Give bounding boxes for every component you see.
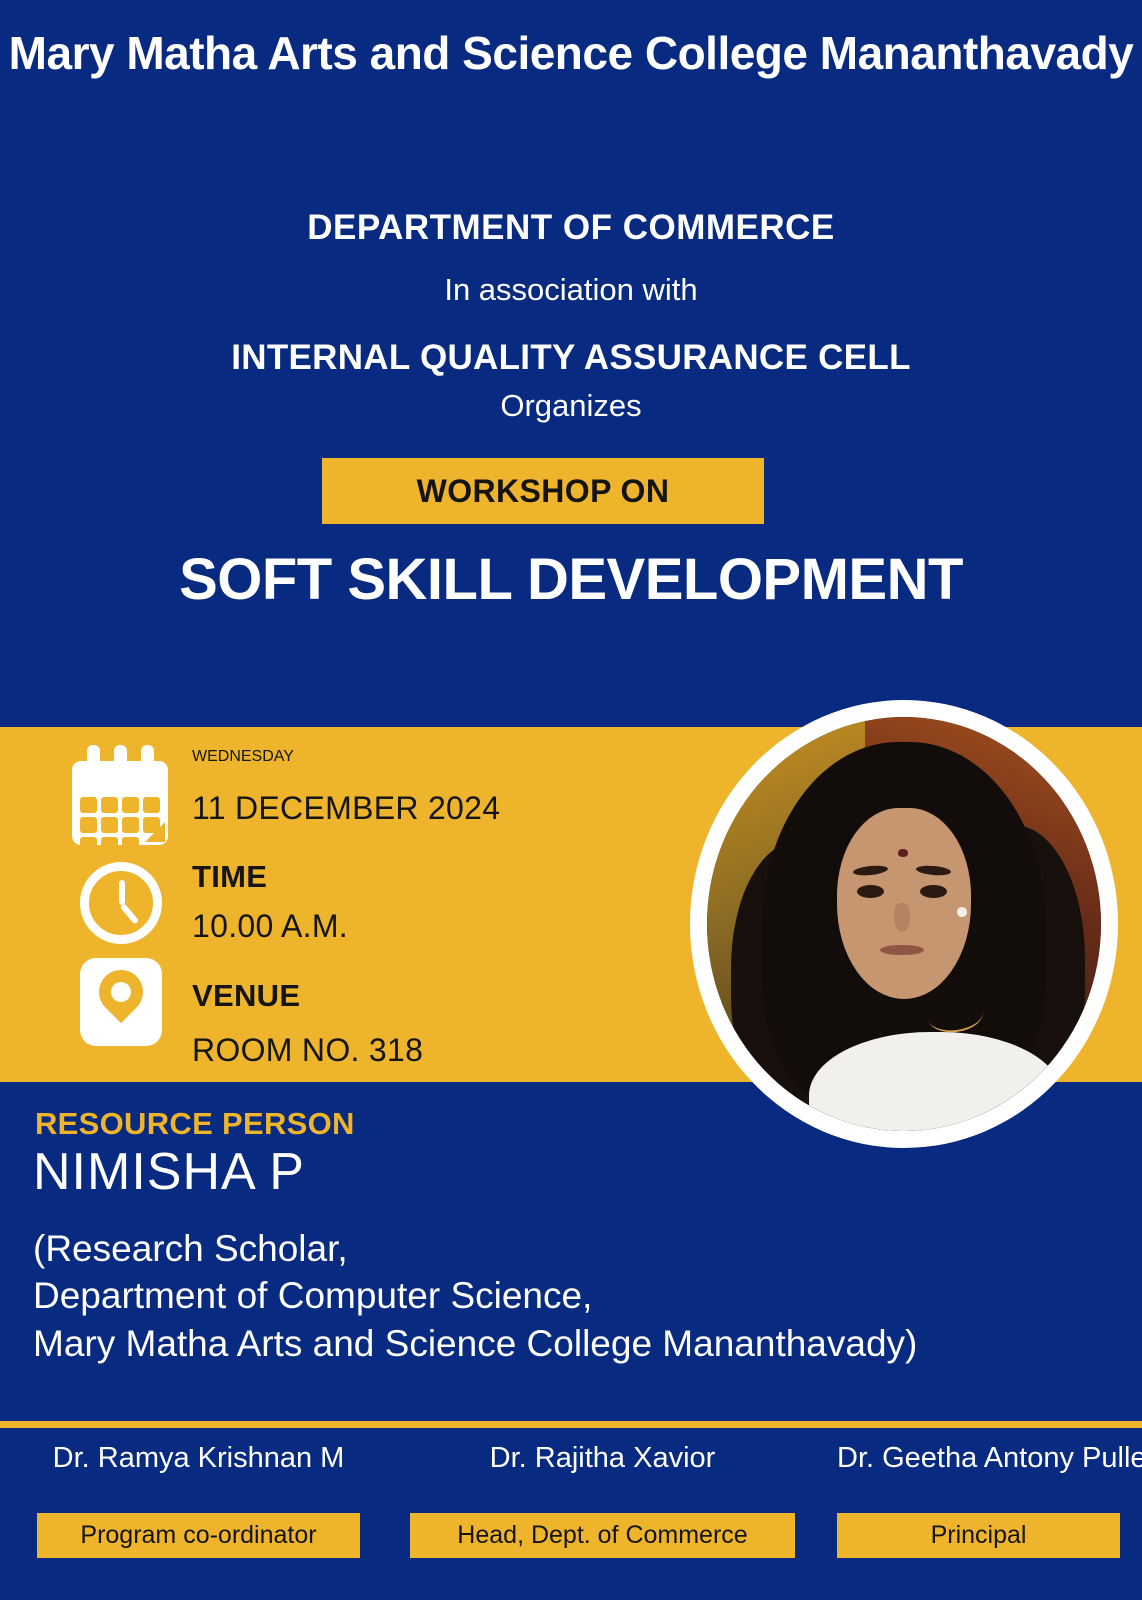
- signatory-role-3: Principal: [837, 1513, 1120, 1558]
- calendar-icon: [72, 745, 168, 845]
- venue-label: VENUE: [192, 978, 300, 1014]
- date-value: 11 DECEMBER 2024: [192, 790, 500, 827]
- footer-signatory-names: Dr. Ramya Krishnan M Dr. Rajitha Xavior …: [0, 1442, 1142, 1490]
- association-text: In association with: [0, 272, 1142, 308]
- signatory-role-2-label: Head, Dept. of Commerce: [457, 1521, 747, 1550]
- signatory-name-2: Dr. Rajitha Xavior: [410, 1442, 795, 1475]
- clock-icon: [80, 862, 162, 944]
- signatory-name-1: Dr. Ramya Krishnan M: [37, 1442, 360, 1475]
- footer-divider: [0, 1421, 1142, 1428]
- signatory-name-3: Dr. Geetha Antony Pullen: [837, 1442, 1120, 1475]
- time-value: 10.00 A.M.: [192, 908, 348, 945]
- signatory-role-3-label: Principal: [931, 1521, 1027, 1550]
- resource-person-affiliation: (Research Scholar, Department of Compute…: [33, 1225, 917, 1367]
- resource-person-name: NIMISHA P: [33, 1142, 305, 1202]
- signatory-role-1-label: Program co-ordinator: [80, 1521, 316, 1550]
- location-pin-icon: [80, 958, 162, 1050]
- partner-name: INTERNAL QUALITY ASSURANCE CELL: [0, 338, 1142, 378]
- venue-value: ROOM NO. 318: [192, 1032, 423, 1069]
- time-label: TIME: [192, 859, 267, 895]
- organizes-text: Organizes: [0, 388, 1142, 424]
- signatory-role-2: Head, Dept. of Commerce: [410, 1513, 795, 1558]
- date-label: WEDNESDAY: [192, 748, 294, 766]
- avatar: [690, 700, 1118, 1148]
- page-title: Mary Matha Arts and Science College Mana…: [0, 28, 1142, 80]
- department-name: DEPARTMENT OF COMMERCE: [0, 208, 1142, 248]
- resource-person-photo: [707, 717, 1101, 1131]
- workshop-topic: SOFT SKILL DEVELOPMENT: [0, 546, 1142, 613]
- resource-person-label: RESOURCE PERSON: [35, 1106, 355, 1142]
- event-poster: Mary Matha Arts and Science College Mana…: [0, 0, 1142, 1600]
- signatory-role-1: Program co-ordinator: [37, 1513, 360, 1558]
- workshop-banner: WORKSHOP ON: [322, 458, 764, 524]
- workshop-banner-label: WORKSHOP ON: [417, 473, 670, 510]
